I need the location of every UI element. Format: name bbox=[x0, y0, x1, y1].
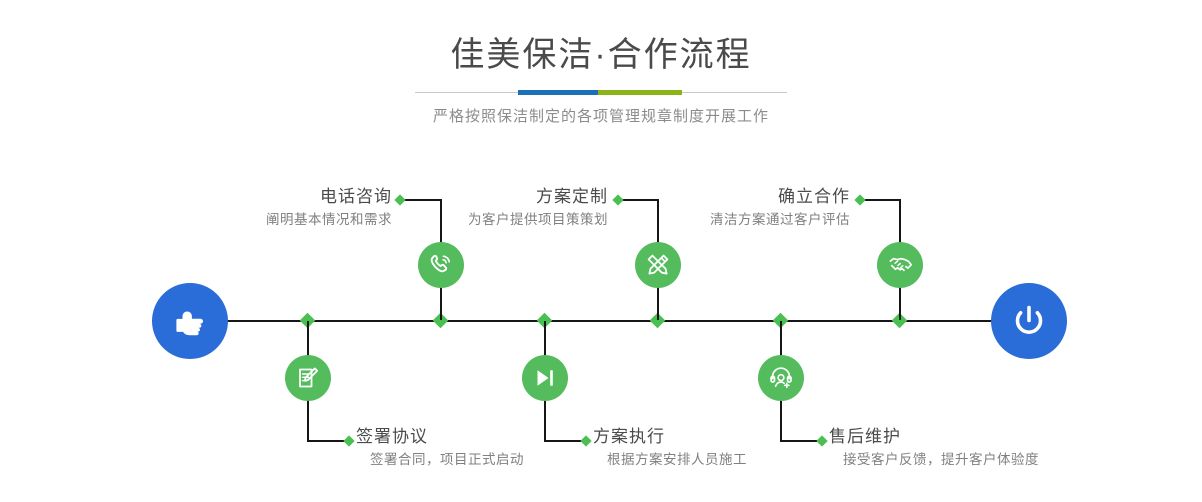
flowchart-canvas: 佳美保洁·合作流程 严格按照保洁制定的各项管理规章制度开展工作 bbox=[0, 0, 1202, 502]
timeline-start-node[interactable] bbox=[152, 283, 228, 359]
step-subtitle-2: 签署合同，项目正式启动 bbox=[370, 450, 524, 470]
document-edit-icon bbox=[295, 365, 321, 391]
step-title-2: 签署协议 bbox=[356, 426, 524, 448]
page-header: 佳美保洁·合作流程 严格按照保洁制定的各项管理规章制度开展工作 bbox=[0, 0, 1202, 127]
play-execute-icon bbox=[532, 365, 558, 391]
step-node-6[interactable] bbox=[758, 355, 804, 401]
step-title-6: 售后维护 bbox=[829, 426, 1039, 448]
step-label-6: 售后维护 接受客户反馈，提升客户体验度 bbox=[829, 426, 1039, 470]
handshake-icon bbox=[887, 252, 914, 279]
step-subtitle-4: 根据方案安排人员施工 bbox=[607, 450, 747, 470]
step-label-4: 方案执行 根据方案安排人员施工 bbox=[593, 426, 747, 470]
divider-segment-blue bbox=[518, 90, 598, 95]
step-title-1: 电话咨询 bbox=[150, 186, 392, 208]
step-subtitle-5: 清洁方案通过客户评估 bbox=[610, 210, 850, 230]
timeline-end-node[interactable] bbox=[991, 283, 1067, 359]
power-icon bbox=[1007, 299, 1051, 343]
divider-segment-green bbox=[598, 90, 682, 95]
step-node-5[interactable] bbox=[877, 242, 923, 288]
step-subtitle-3: 为客户提供项目策策划 bbox=[370, 210, 608, 230]
title-divider bbox=[415, 90, 787, 96]
step-node-2[interactable] bbox=[285, 355, 331, 401]
step-title-3: 方案定制 bbox=[370, 186, 608, 208]
pointing-hand-icon bbox=[169, 300, 211, 342]
customer-service-icon bbox=[768, 365, 794, 391]
page-title: 佳美保洁·合作流程 bbox=[0, 34, 1202, 76]
step-subtitle-1: 阐明基本情况和需求 bbox=[150, 210, 392, 230]
step-label-3: 方案定制 为客户提供项目策策划 bbox=[370, 186, 608, 230]
timeline-axis bbox=[152, 320, 1050, 322]
step-title-4: 方案执行 bbox=[593, 426, 747, 448]
step-subtitle-6: 接受客户反馈，提升客户体验度 bbox=[843, 450, 1039, 470]
label-marker-5 bbox=[854, 194, 865, 205]
page-subtitle: 严格按照保洁制定的各项管理规章制度开展工作 bbox=[0, 107, 1202, 127]
step-node-1[interactable] bbox=[418, 242, 464, 288]
step-label-2: 签署协议 签署合同，项目正式启动 bbox=[356, 426, 524, 470]
step-node-4[interactable] bbox=[522, 355, 568, 401]
pencil-design-icon bbox=[645, 252, 671, 278]
phone-call-icon bbox=[428, 252, 454, 278]
step-label-5: 确立合作 清洁方案通过客户评估 bbox=[610, 186, 850, 230]
connector-horizontal-5 bbox=[860, 199, 901, 201]
label-marker-4 bbox=[580, 435, 591, 446]
label-marker-6 bbox=[816, 435, 827, 446]
step-label-1: 电话咨询 阐明基本情况和需求 bbox=[150, 186, 392, 230]
step-node-3[interactable] bbox=[635, 242, 681, 288]
label-marker-2 bbox=[343, 435, 354, 446]
step-title-5: 确立合作 bbox=[610, 186, 850, 208]
